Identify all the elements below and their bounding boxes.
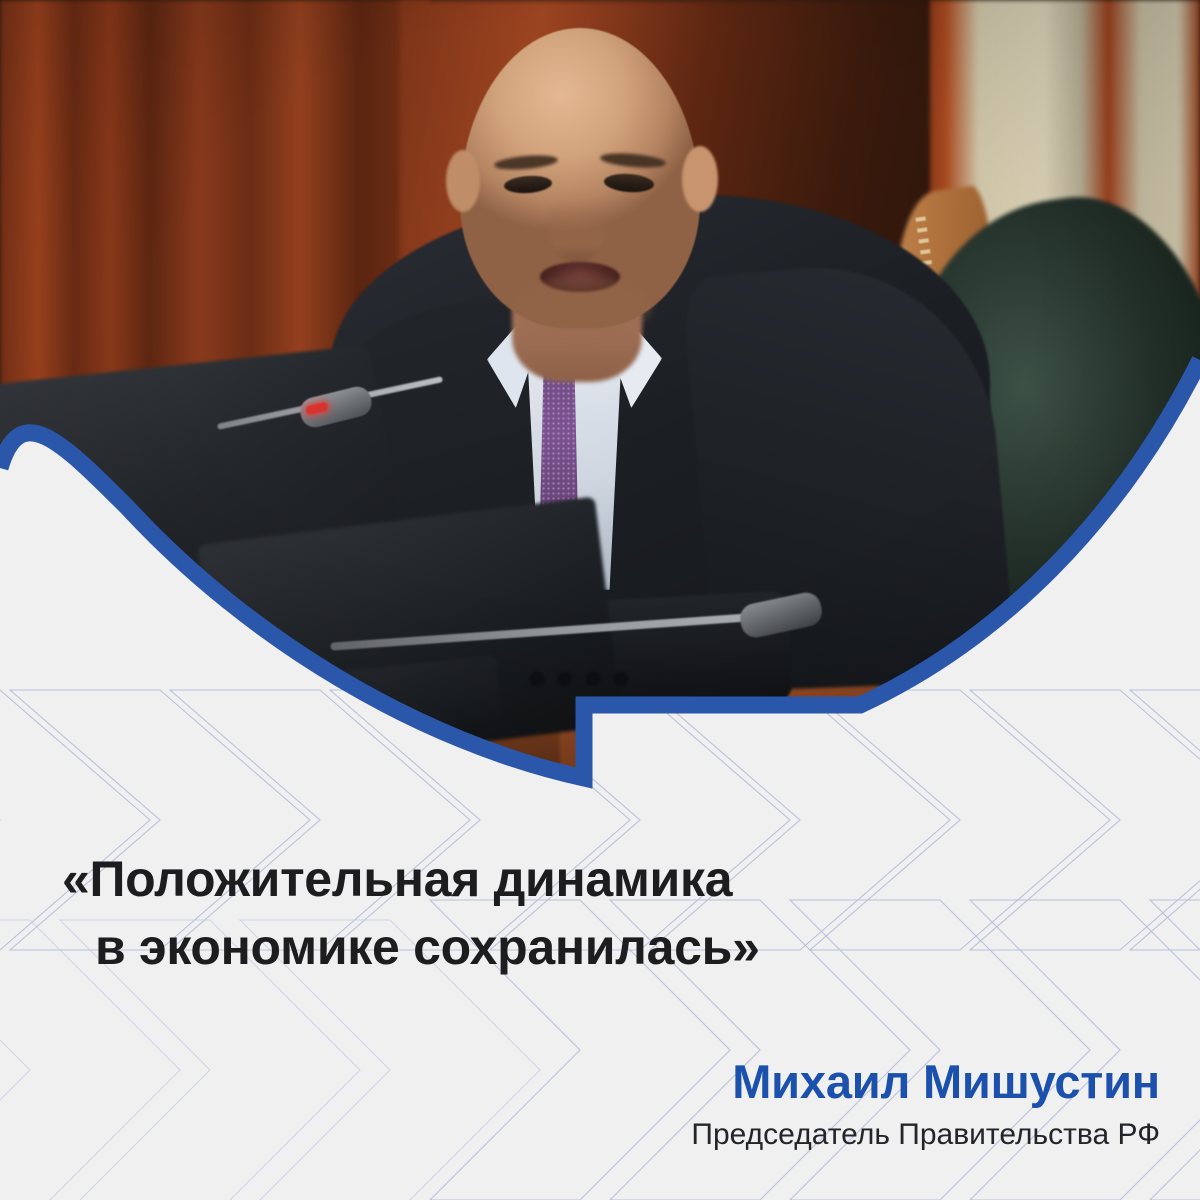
quote-card: «Положительная динамика в экономике сохр… xyxy=(0,0,1200,1200)
hero-photo xyxy=(0,0,1200,800)
quote-text: «Положительная динамика в экономике сохр… xyxy=(62,845,962,981)
speaker-role: Председатель Правительства РФ xyxy=(691,1115,1160,1154)
quote-line-1: «Положительная динамика xyxy=(62,851,732,907)
attribution-block: Михаил Мишустин Председатель Правительст… xyxy=(691,1056,1160,1154)
photo-canvas xyxy=(0,0,1200,800)
quote-line-2: в экономике сохранилась» xyxy=(62,913,962,981)
speaker-name: Михаил Мишустин xyxy=(691,1056,1160,1109)
